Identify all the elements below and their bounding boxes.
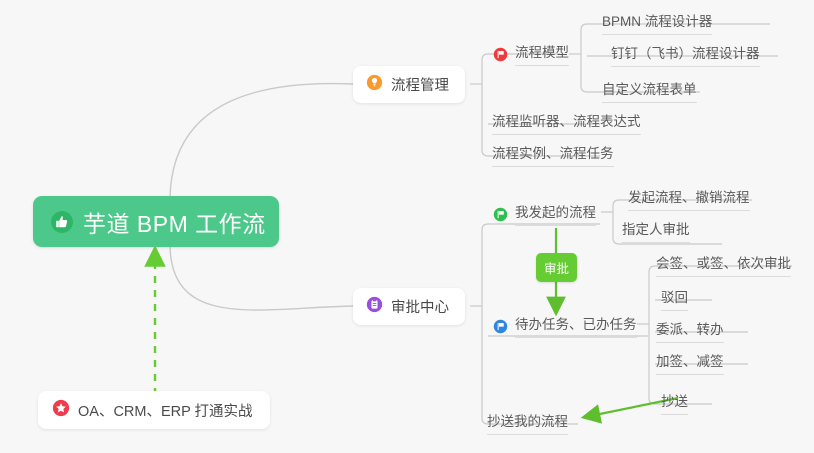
leaf-node-bohui[interactable]: 驳回 xyxy=(661,288,688,311)
sub-node-label-liucheng-moxing: 流程模型 xyxy=(515,43,569,66)
leaf-node-faqi-chexiao[interactable]: 发起流程、撤销流程 xyxy=(628,188,750,211)
leaf-node-chaosong-wo-de-liucheng[interactable]: 抄送我的流程 xyxy=(487,412,568,435)
sub-node-wo-faqi-de-liucheng[interactable]: 我发起的流程 xyxy=(493,202,596,226)
sub-node-label-wo-faqi-de-liucheng: 我发起的流程 xyxy=(515,203,596,226)
wire-daiban-trunk-top xyxy=(649,266,655,272)
wire-spzx-trunk-top xyxy=(482,224,488,230)
wire-root-to-shenpi-zhongxin xyxy=(170,246,353,310)
flag-icon xyxy=(493,319,508,334)
wire-wofaqi-trunk-bottom xyxy=(613,238,619,244)
leaf-node-chaosong[interactable]: 抄送 xyxy=(661,392,688,415)
branch-node-liucheng-guanli[interactable]: 流程管理 xyxy=(353,66,465,103)
leaf-node-zhidingren-shenpi[interactable]: 指定人审批 xyxy=(622,220,690,243)
lightbulb-pin-icon xyxy=(366,74,383,96)
sub-node-liucheng-moxing[interactable]: 流程模型 xyxy=(493,42,569,66)
clipboard-icon xyxy=(366,296,383,318)
branch-label-liucheng-guanli: 流程管理 xyxy=(391,74,449,95)
mindmap-canvas: 芋道 BPM 工作流 流程管理 审批中心 xyxy=(0,0,814,453)
leaf-node-weipai-zhuanban[interactable]: 委派、转办 xyxy=(656,320,724,343)
leaf-node-instance-task[interactable]: 流程实例、流程任务 xyxy=(492,144,614,167)
root-node[interactable]: 芋道 BPM 工作流 xyxy=(33,196,279,247)
callout-label: OA、CRM、ERP 打通实战 xyxy=(78,400,253,421)
leaf-node-jiaqian-jianqian[interactable]: 加签、减签 xyxy=(656,352,724,375)
wire-root-to-liucheng-guanli xyxy=(170,84,353,198)
wire-lcgl-trunk-top-curve xyxy=(482,54,488,60)
thumbs-up-icon xyxy=(50,210,74,234)
leaf-node-custom-form[interactable]: 自定义流程表单 xyxy=(602,80,697,103)
badge-shenpi-label: 审批 xyxy=(544,258,569,277)
leaf-node-huiqian-huoqian[interactable]: 会签、或签、依次审批 xyxy=(656,254,791,277)
branch-node-shenpi-zhongxin[interactable]: 审批中心 xyxy=(353,288,465,325)
badge-shenpi[interactable]: 审批 xyxy=(536,253,577,282)
wire-moxing-trunk-bottom xyxy=(581,86,587,92)
sub-node-label-daiban-yiban-renwu: 待办任务、已办任务 xyxy=(515,315,637,338)
flag-icon xyxy=(493,47,508,62)
sub-node-daiban-yiban-renwu[interactable]: 待办任务、已办任务 xyxy=(493,314,637,338)
star-icon xyxy=(52,399,70,422)
branch-label-shenpi-zhongxin: 审批中心 xyxy=(391,296,449,317)
wire-lcgl-trunk-bottom-curve xyxy=(482,150,488,156)
wire-daiban-trunk-bottom xyxy=(649,398,655,404)
callout-node-oa-crm-erp[interactable]: OA、CRM、ERP 打通实战 xyxy=(38,391,270,429)
flag-icon xyxy=(493,207,508,222)
leaf-node-bpmn-designer[interactable]: BPMN 流程设计器 xyxy=(602,12,712,35)
wire-moxing-trunk-top xyxy=(581,24,587,30)
root-label: 芋道 BPM 工作流 xyxy=(83,205,266,239)
wire-wofaqi-trunk-top xyxy=(613,200,619,206)
leaf-node-listener-expression[interactable]: 流程监听器、流程表达式 xyxy=(492,112,641,135)
leaf-node-dingding-designer[interactable]: 钉钉（飞书）流程设计器 xyxy=(611,44,760,67)
